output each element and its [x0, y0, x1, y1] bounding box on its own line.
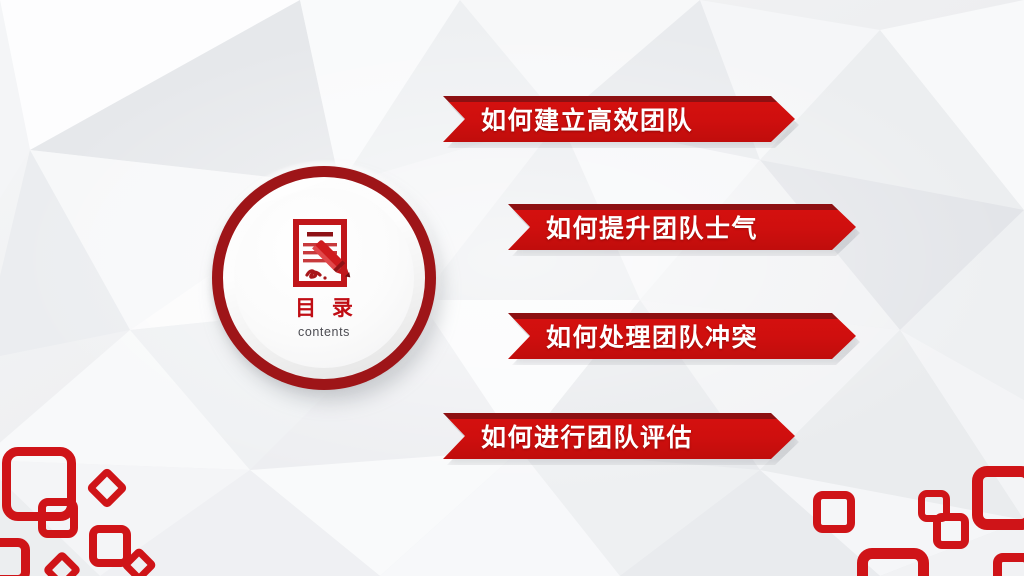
badge-title: 目 录	[290, 298, 358, 319]
badge-ring: 目 录 contents	[212, 166, 436, 390]
contents-item-1[interactable]: 如何建立高效团队	[443, 96, 795, 142]
badge-inner-disc: 目 录 contents	[234, 188, 414, 368]
contents-badge: 目 录 contents	[212, 166, 436, 390]
presentation-slide: 目 录 contents 如何建立高效团队如何提升团队士气如何处理团队冲突如何进…	[0, 0, 1024, 576]
badge-subtitle: contents	[298, 326, 350, 339]
contents-item-label: 如何提升团队士气	[546, 209, 758, 245]
contents-item-2[interactable]: 如何提升团队士气	[508, 204, 856, 250]
contents-item-3[interactable]: 如何处理团队冲突	[508, 313, 856, 359]
contents-item-label: 如何处理团队冲突	[546, 318, 758, 354]
background-polygon-texture	[0, 0, 1024, 576]
contents-item-label: 如何进行团队评估	[481, 418, 693, 454]
document-with-pencil-icon	[290, 219, 358, 289]
contents-item-4[interactable]: 如何进行团队评估	[443, 413, 795, 459]
contents-item-label: 如何建立高效团队	[481, 101, 693, 137]
